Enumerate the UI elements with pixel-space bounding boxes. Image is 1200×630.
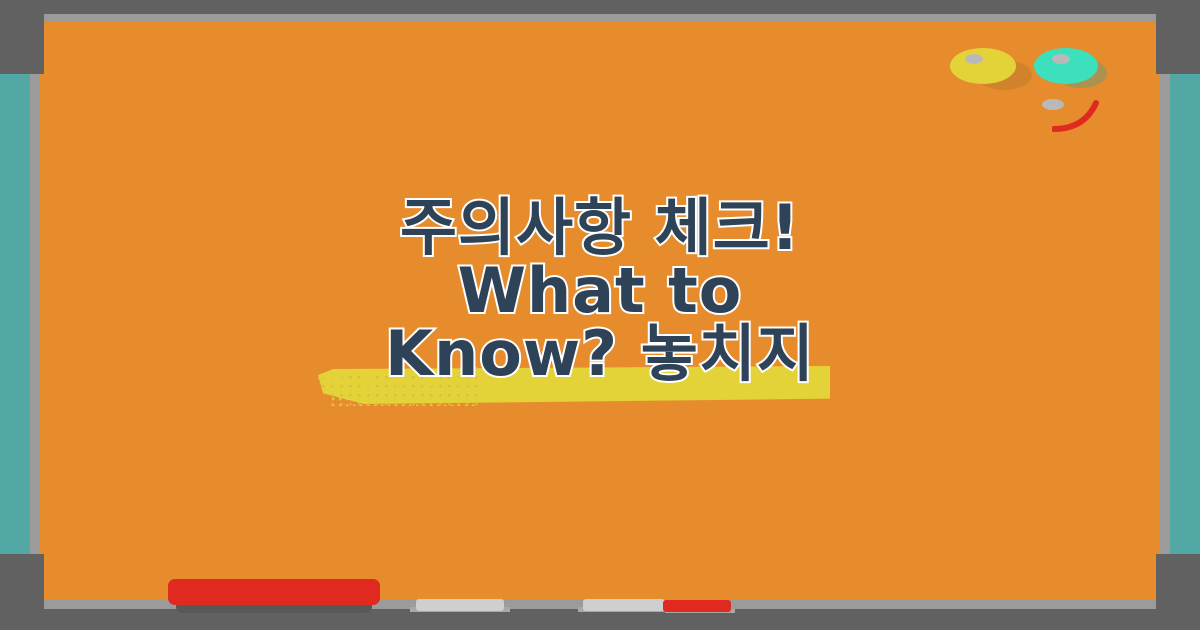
- yellow-ellipse-decoration: [950, 48, 1016, 84]
- gray-bar-prop-one: [416, 599, 504, 611]
- red-small-bar-prop: [663, 600, 731, 612]
- teal-ellipse-highlight: [1052, 54, 1070, 64]
- red-bar-prop: [168, 579, 380, 605]
- clamp-strip-top: [44, 0, 1156, 14]
- red-swoosh-decoration: [1052, 99, 1106, 133]
- poster-canvas: 주의사항 체크! What to Know? 놓치지: [0, 0, 1200, 630]
- yellow-ellipse-highlight: [965, 54, 983, 64]
- bevel-strip-right: [1160, 0, 1170, 630]
- clamp-top-left: [0, 0, 44, 74]
- clamp-bottom-right: [1156, 554, 1200, 630]
- bevel-strip-top: [0, 13, 1200, 22]
- clamp-top-right: [1156, 0, 1200, 74]
- clamp-bottom-left: [0, 554, 44, 630]
- bevel-strip-left: [30, 0, 40, 630]
- board-surface: [40, 22, 1160, 600]
- teal-ellipse-decoration: [1034, 48, 1098, 84]
- gray-bar-prop-two: [583, 599, 665, 611]
